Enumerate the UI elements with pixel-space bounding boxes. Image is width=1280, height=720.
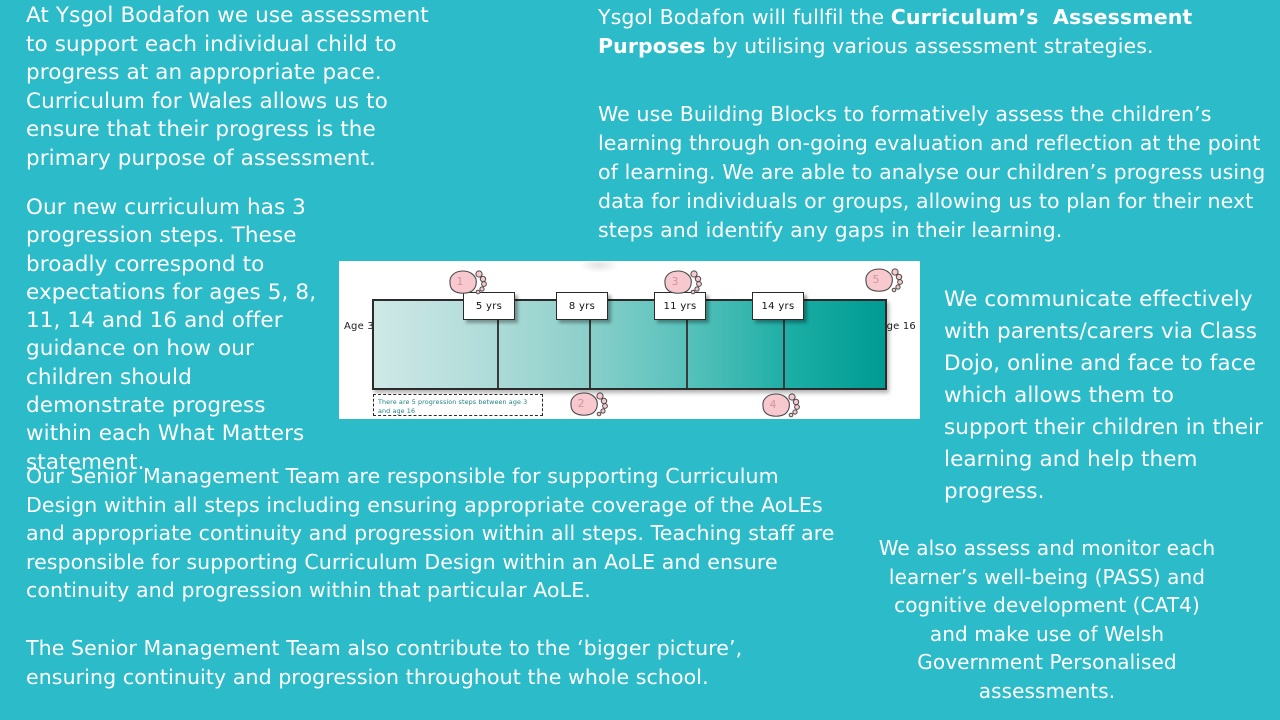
paragraph-assessment-intro: At Ysgol Bodafon we use assessment to su… [26,2,431,174]
purposes-lead-text: Ysgol Bodafon will fullfil the [598,5,891,29]
footprint-icon: 4 [759,390,801,419]
paragraph-building-blocks: We use Building Blocks to formatively as… [598,100,1266,245]
paragraph-assessment-purposes: Ysgol Bodafon will fullfil the Curriculu… [598,3,1280,61]
paragraph-progression-steps: Our new curriculum has 3 progression ste… [26,194,336,477]
progression-steps-note: There are 5 progression steps between ag… [373,394,543,416]
footprint-icon: 1 [446,267,488,297]
purposes-tail-text: by utilising various assessment strategi… [706,34,1154,58]
progression-gradient-bar [372,299,887,390]
diagram-age-start-label: Age 3 [344,321,374,333]
age-marker-chip: 14 yrs [752,292,804,320]
age-marker-chip: 8 yrs [556,292,608,320]
footprint-icon: 5 [862,265,904,295]
progression-steps-diagram: Age 3 Age 16 5 yrs 8 yrs 11 yrs 14 yrs T… [339,261,920,419]
slide-canvas: At Ysgol Bodafon we use assessment to su… [0,0,1280,720]
footprint-icon: 2 [567,389,609,419]
paragraph-smt-bigger-picture: The Senior Management Team also contribu… [26,634,826,691]
paragraph-communication: We communicate effectively with parents/… [944,284,1264,508]
paragraph-wellbeing-assessments: We also assess and monitor each learner’… [876,534,1218,706]
scan-smudge [579,261,619,273]
paragraph-smt-responsibilities: Our Senior Management Team are responsib… [26,462,856,605]
footprint-icon: 3 [661,267,703,297]
